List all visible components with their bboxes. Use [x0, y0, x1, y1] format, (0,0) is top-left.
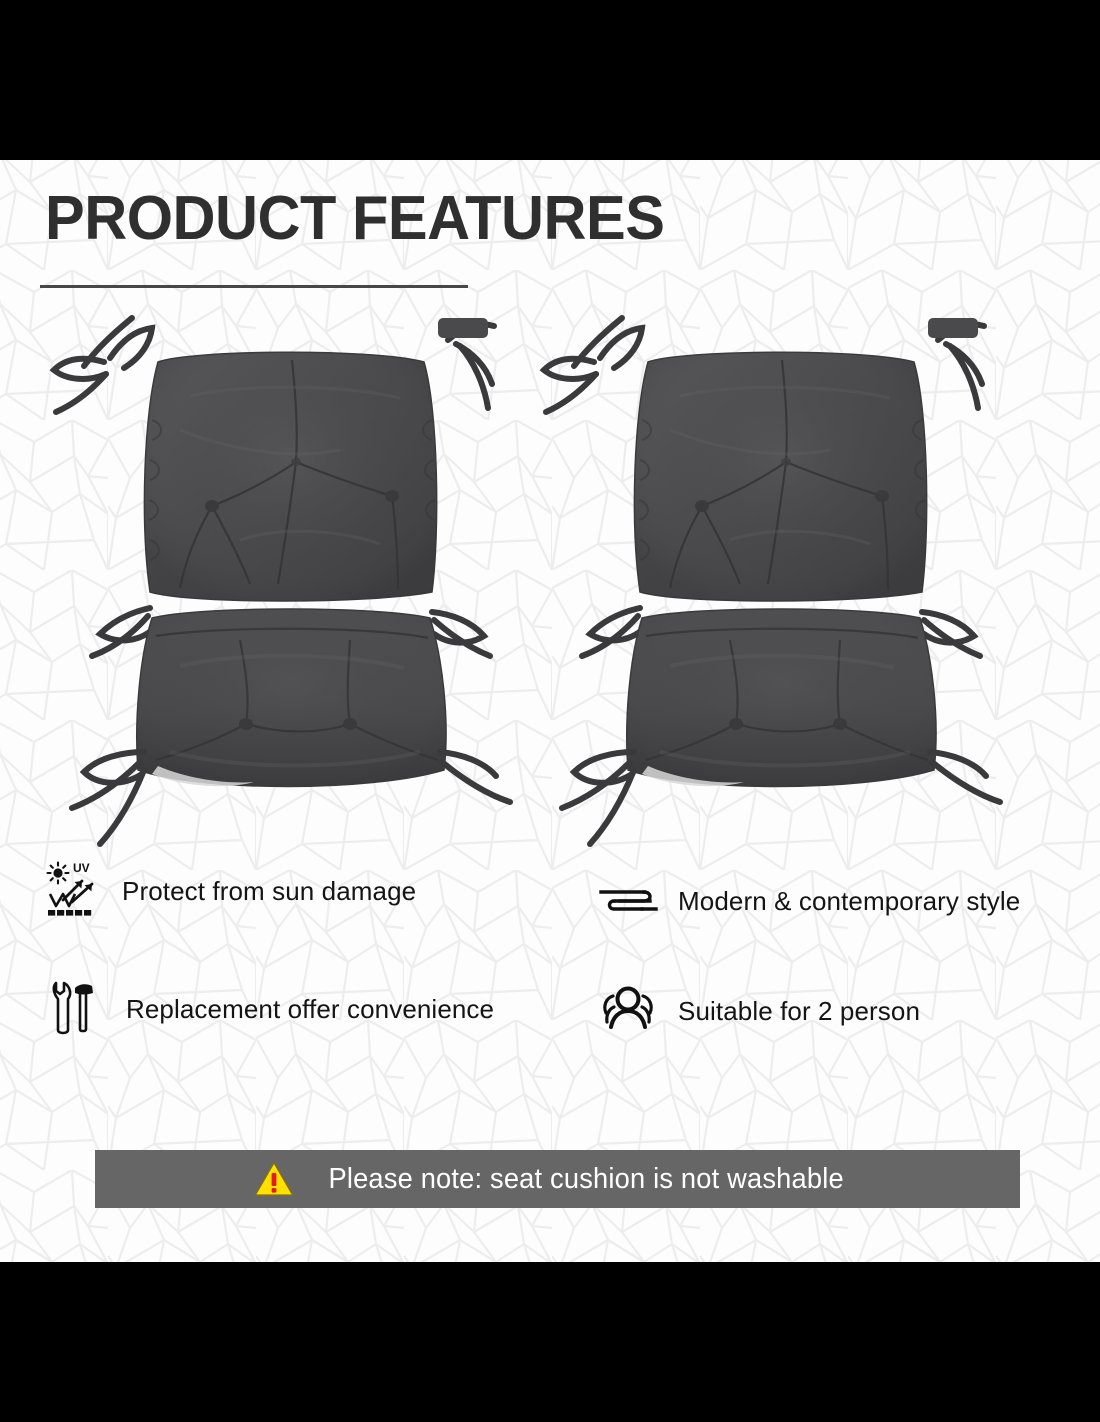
letterbox-top	[0, 0, 1100, 160]
cushion-tie-knot	[928, 318, 978, 338]
tools-icon	[46, 978, 108, 1040]
cushion-seat-pad	[627, 609, 936, 787]
warning-triangle-icon	[254, 1160, 294, 1198]
content-canvas: PRODUCT FEATURES	[0, 160, 1100, 1262]
cushion-seat-pad	[137, 609, 446, 787]
infographic-page: PRODUCT FEATURES	[0, 0, 1100, 1422]
feature-item-replacement: Replacement offer convenience	[46, 978, 494, 1040]
cushion-tie-knot	[438, 318, 488, 338]
feature-item-uv-protection: UV	[42, 860, 416, 922]
uv-icon-text: UV	[73, 861, 90, 875]
cushion-tie-strap	[544, 318, 642, 412]
cushion-tie-strap	[440, 752, 510, 802]
cushion-back-pad	[634, 352, 926, 601]
cushion-illustration	[40, 300, 540, 860]
cushion-tie-strap	[54, 318, 152, 412]
feature-item-capacity: Suitable for 2 person	[598, 980, 920, 1042]
page-header: PRODUCT FEATURES	[45, 188, 690, 250]
hammer-icon	[75, 984, 93, 1031]
uv-protection-icon: UV	[42, 860, 104, 922]
wrench-icon	[54, 983, 70, 1033]
two-people-icon	[598, 980, 660, 1042]
cushion-tie-strap	[930, 752, 1000, 802]
cushion-tie-strap	[562, 752, 634, 844]
note-banner: Please note: seat cushion is not washabl…	[95, 1150, 1020, 1208]
note-text: Please note: seat cushion is not washabl…	[329, 1163, 844, 1196]
feature-label: Suitable for 2 person	[678, 996, 920, 1027]
letterbox-bottom	[0, 1262, 1100, 1422]
product-cushion-left	[40, 300, 540, 860]
modern-style-icon	[598, 870, 660, 932]
product-image-area	[0, 300, 1100, 860]
cushion-illustration	[530, 300, 1030, 860]
feature-label: Protect from sun damage	[122, 876, 416, 907]
cushion-back-pad	[144, 352, 436, 601]
product-cushion-right	[530, 300, 1030, 860]
feature-item-modern-style: Modern & contemporary style	[598, 870, 1020, 932]
cushion-tie-strap	[72, 752, 144, 844]
page-title: PRODUCT FEATURES	[45, 188, 665, 250]
title-underline-rule	[40, 285, 468, 288]
feature-label: Modern & contemporary style	[678, 886, 1020, 917]
feature-label: Replacement offer convenience	[126, 994, 494, 1025]
